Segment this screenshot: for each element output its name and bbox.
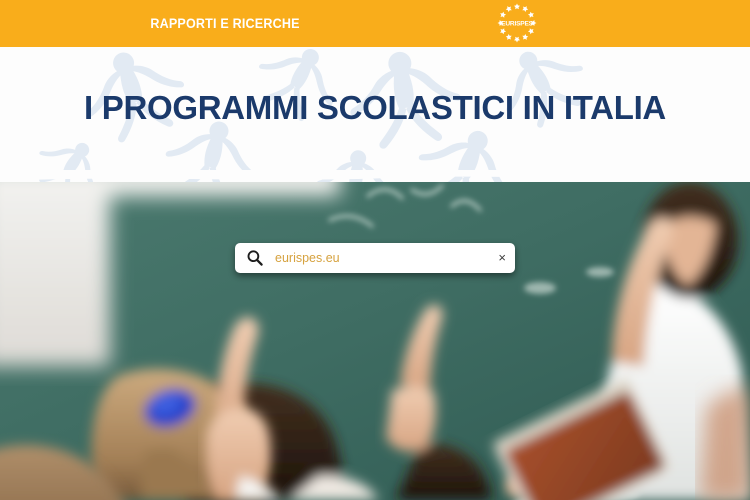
section-label: RAPPORTI E RICERCHE: [16, 0, 435, 47]
page-root: RAPPORTI E RICERCHE: [0, 0, 750, 500]
search-input[interactable]: eurispes.eu: [275, 243, 340, 273]
top-orange-bar: RAPPORTI E RICERCHE: [0, 0, 750, 47]
search-icon: [246, 249, 264, 267]
eurispes-logo[interactable]: EURISPES: [496, 2, 538, 44]
svg-text:EURISPES: EURISPES: [501, 20, 534, 27]
classroom-photo: [0, 176, 750, 500]
search-bar[interactable]: eurispes.eu ×: [235, 243, 515, 273]
page-title: I PROGRAMMI SCOLASTICI IN ITALIA: [0, 89, 750, 127]
hero-band: I PROGRAMMI SCOLASTICI IN ITALIA: [0, 47, 750, 182]
clear-search-icon[interactable]: ×: [498, 243, 506, 273]
